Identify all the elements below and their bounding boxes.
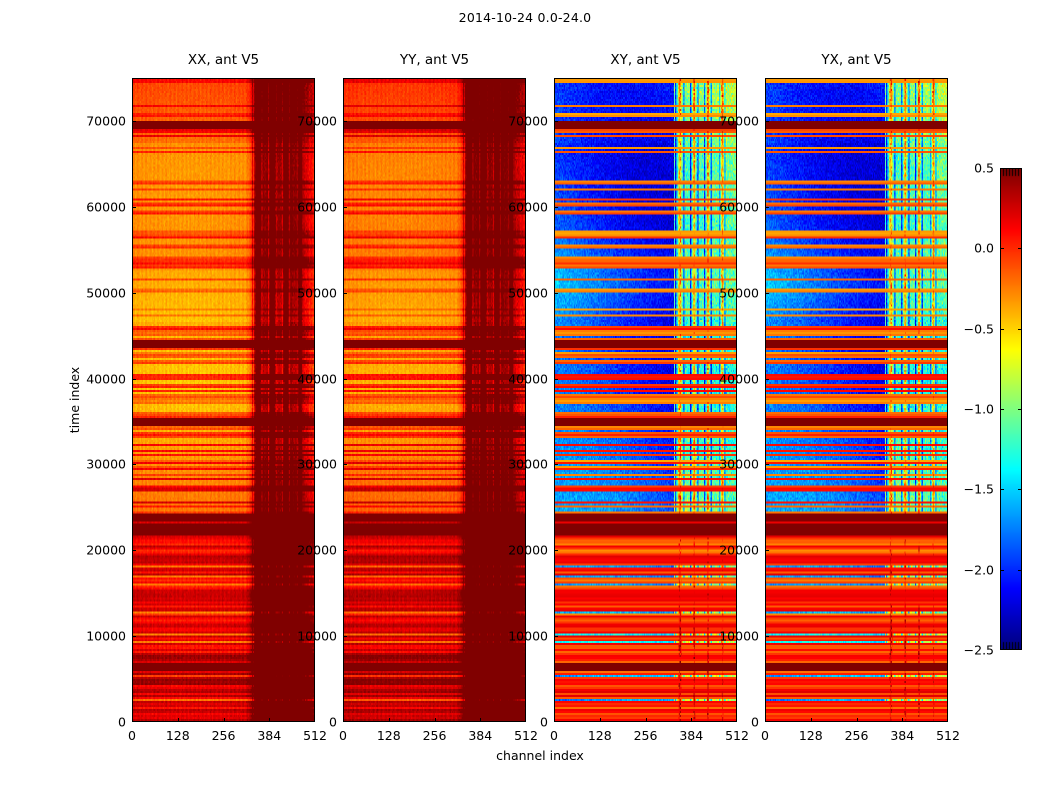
ytick-label: 20000 xyxy=(86,543,126,558)
ytick-mark xyxy=(554,464,558,465)
ytick-label: 0 xyxy=(751,715,759,730)
yaxis-ticklabels-xy: 010000200003000040000500006000070000 xyxy=(492,78,548,722)
ytick-label: 50000 xyxy=(719,285,759,300)
xtick-label: 128 xyxy=(799,728,823,743)
ytick-label: 70000 xyxy=(508,113,548,128)
ytick-label: 30000 xyxy=(719,457,759,472)
ytick-label: 40000 xyxy=(508,371,548,386)
ytick-label: 20000 xyxy=(719,543,759,558)
ytick-mark xyxy=(343,721,347,722)
yaxis-label: time index xyxy=(67,367,82,433)
ytick-mark xyxy=(343,550,347,551)
xtick-label: 384 xyxy=(890,728,914,743)
colorbar-tick-mark xyxy=(1000,570,1004,571)
ytick-label: 30000 xyxy=(508,457,548,472)
colorbar-tick-mark xyxy=(1000,329,1004,330)
xaxis-ticklabels-xy: 0128256384512 xyxy=(554,728,737,746)
ytick-label: 70000 xyxy=(719,113,759,128)
ytick-label: 60000 xyxy=(719,199,759,214)
ytick-mark xyxy=(132,207,136,208)
xtick-label: 256 xyxy=(845,728,869,743)
yaxis-ticklabels-yx: 010000200003000040000500006000070000 xyxy=(703,78,759,722)
ytick-mark xyxy=(132,636,136,637)
xtick-mark xyxy=(947,718,948,722)
panel-title-yy: YY, ant V5 xyxy=(343,52,526,68)
ytick-label: 30000 xyxy=(297,457,337,472)
xtick-label: 256 xyxy=(423,728,447,743)
ytick-mark xyxy=(132,121,136,122)
xtick-label: 0 xyxy=(128,728,136,743)
ytick-label: 60000 xyxy=(297,199,337,214)
ytick-mark xyxy=(132,550,136,551)
ytick-label: 0 xyxy=(118,715,126,730)
xtick-label: 512 xyxy=(514,728,538,743)
ytick-mark xyxy=(554,121,558,122)
xtick-mark xyxy=(691,718,692,722)
ytick-mark xyxy=(132,293,136,294)
ytick-mark xyxy=(343,207,347,208)
yaxis-ticklabels-yy: 010000200003000040000500006000070000 xyxy=(281,78,337,722)
xtick-mark xyxy=(811,718,812,722)
xtick-label: 512 xyxy=(303,728,327,743)
ytick-label: 10000 xyxy=(719,629,759,644)
ytick-label: 0 xyxy=(329,715,337,730)
ytick-label: 10000 xyxy=(297,629,337,644)
xtick-label: 512 xyxy=(936,728,960,743)
colorbar-tick-label: 0.0 xyxy=(952,241,994,256)
colorbar-tick-label: −2.5 xyxy=(952,643,994,658)
panel-title-yx: YX, ant V5 xyxy=(765,52,948,68)
ytick-label: 20000 xyxy=(508,543,548,558)
xtick-mark xyxy=(857,718,858,722)
ytick-label: 50000 xyxy=(86,285,126,300)
xaxis-ticklabels-xx: 0128256384512 xyxy=(132,728,315,746)
colorbar-tick-label: 0.5 xyxy=(952,161,994,176)
ytick-label: 30000 xyxy=(86,457,126,472)
colorbar-tick-label: −1.0 xyxy=(952,402,994,417)
colorbar-tick-mark xyxy=(1018,329,1022,330)
xtick-label: 256 xyxy=(634,728,658,743)
ytick-label: 50000 xyxy=(297,285,337,300)
xtick-mark xyxy=(224,718,225,722)
xtick-label: 512 xyxy=(725,728,749,743)
ytick-label: 20000 xyxy=(297,543,337,558)
xaxis-ticklabels-yx: 0128256384512 xyxy=(765,728,948,746)
ytick-mark xyxy=(554,721,558,722)
ytick-label: 60000 xyxy=(86,199,126,214)
figure-canvas: 2014-10-24 0.0-24.0 XX, ant V50128256384… xyxy=(0,0,1050,800)
xtick-label: 384 xyxy=(679,728,703,743)
ytick-mark xyxy=(132,464,136,465)
ytick-mark xyxy=(132,721,136,722)
ytick-mark xyxy=(132,379,136,380)
ytick-mark xyxy=(343,293,347,294)
xtick-label: 0 xyxy=(550,728,558,743)
ytick-mark xyxy=(554,207,558,208)
figure-suptitle: 2014-10-24 0.0-24.0 xyxy=(0,10,1050,25)
ytick-mark xyxy=(765,550,769,551)
ytick-mark xyxy=(554,293,558,294)
xaxis-label: channel index xyxy=(132,748,948,763)
ytick-mark xyxy=(765,207,769,208)
xtick-mark xyxy=(389,718,390,722)
ytick-label: 40000 xyxy=(86,371,126,386)
xtick-label: 128 xyxy=(166,728,190,743)
xtick-label: 384 xyxy=(257,728,281,743)
xtick-mark xyxy=(435,718,436,722)
ytick-mark xyxy=(554,636,558,637)
xtick-mark xyxy=(269,718,270,722)
colorbar-tick-mark xyxy=(1018,489,1022,490)
ytick-label: 40000 xyxy=(719,371,759,386)
colorbar-tick-mark xyxy=(1018,570,1022,571)
panel-title-xy: XY, ant V5 xyxy=(554,52,737,68)
ytick-mark xyxy=(343,636,347,637)
colorbar-tick-mark xyxy=(1000,489,1004,490)
xtick-label: 128 xyxy=(588,728,612,743)
ytick-label: 70000 xyxy=(86,113,126,128)
xtick-mark xyxy=(646,718,647,722)
ytick-label: 40000 xyxy=(297,371,337,386)
colorbar-tick-mark xyxy=(1018,248,1022,249)
heatmap-panel-yx[interactable] xyxy=(765,78,948,722)
heatmap-image-yx xyxy=(766,79,947,721)
colorbar-tick-mark xyxy=(1000,409,1004,410)
colorbar-tick-mark xyxy=(1000,248,1004,249)
ytick-mark xyxy=(765,721,769,722)
colorbar-tick-label: −1.5 xyxy=(952,482,994,497)
ytick-label: 70000 xyxy=(297,113,337,128)
ytick-mark xyxy=(554,379,558,380)
colorbar-tick-mark xyxy=(1018,409,1022,410)
ytick-label: 10000 xyxy=(508,629,548,644)
ytick-label: 60000 xyxy=(508,199,548,214)
ytick-label: 10000 xyxy=(86,629,126,644)
xtick-label: 0 xyxy=(339,728,347,743)
colorbar-tick-label: −2.0 xyxy=(952,562,994,577)
ytick-mark xyxy=(765,293,769,294)
panel-title-xx: XX, ant V5 xyxy=(132,52,315,68)
ytick-mark xyxy=(765,121,769,122)
xtick-mark xyxy=(600,718,601,722)
colorbar-group: −2.5−2.0−1.5−1.0−0.50.00.5 log10 amplitu… xyxy=(1000,168,1022,650)
xtick-mark xyxy=(178,718,179,722)
ytick-mark xyxy=(765,636,769,637)
xtick-mark xyxy=(480,718,481,722)
ytick-mark xyxy=(765,464,769,465)
xtick-label: 256 xyxy=(212,728,236,743)
xtick-mark xyxy=(902,718,903,722)
ytick-label: 50000 xyxy=(508,285,548,300)
colorbar-tick-label: −0.5 xyxy=(952,321,994,336)
ytick-mark xyxy=(343,121,347,122)
ytick-label: 0 xyxy=(540,715,548,730)
xaxis-ticklabels-yy: 0128256384512 xyxy=(343,728,526,746)
ytick-mark xyxy=(765,379,769,380)
xtick-label: 384 xyxy=(468,728,492,743)
ytick-mark xyxy=(343,379,347,380)
ytick-mark xyxy=(343,464,347,465)
xtick-label: 128 xyxy=(377,728,401,743)
xtick-label: 0 xyxy=(761,728,769,743)
ytick-mark xyxy=(554,550,558,551)
